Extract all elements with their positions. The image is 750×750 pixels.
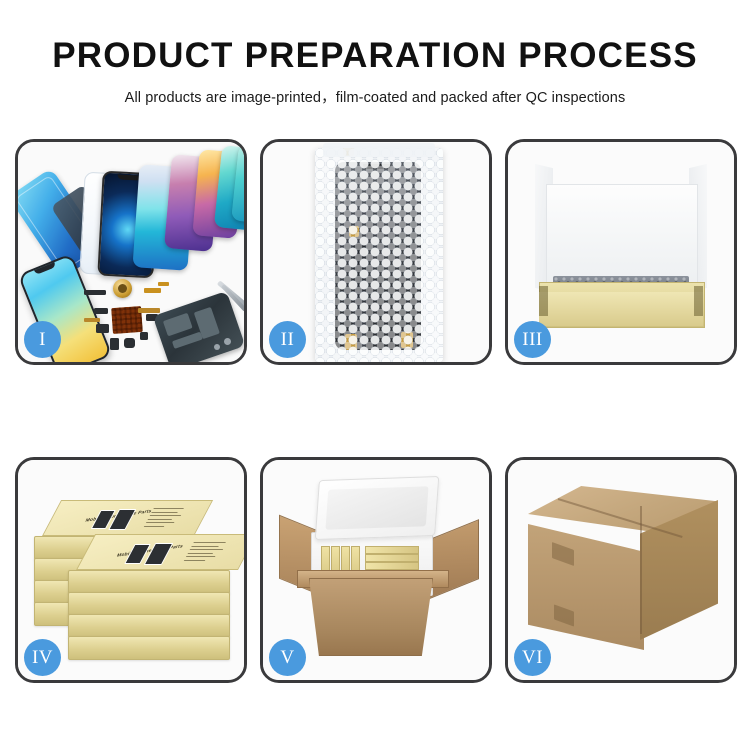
open-box <box>535 154 707 344</box>
bubble-texture-overlay <box>315 148 443 362</box>
step-badge-1: I <box>24 321 61 358</box>
flex-cable-4 <box>84 318 100 322</box>
open-carton <box>281 474 477 672</box>
step-panel-3: III <box>505 139 737 365</box>
stacked-box-f4 <box>68 636 230 660</box>
product-preparation-infographic: PRODUCT PREPARATION PROCESS All products… <box>0 0 750 750</box>
chip-part-1 <box>84 290 106 295</box>
step-badge-3: III <box>514 321 551 358</box>
step-badge-2: II <box>269 321 306 358</box>
box-corner-left <box>539 286 548 316</box>
speaker-coil-part <box>113 279 132 298</box>
carton-front <box>309 578 433 656</box>
step-badge-5: V <box>269 639 306 676</box>
box-stack: Mobile Phone Spare Parts Mobi <box>34 474 234 670</box>
stacked-box-top-front: Mobile Phone Spare Parts <box>76 534 244 570</box>
step-panel-2: II <box>260 139 492 365</box>
stacked-box-f3 <box>68 614 230 638</box>
steps-grid: I II <box>15 139 737 683</box>
box-corner-right <box>694 286 703 316</box>
step-badge-4: IV <box>24 639 61 676</box>
bubble-wrap-bag <box>315 148 443 362</box>
stacked-box-top-back: Mobile Phone Spare Parts <box>42 500 213 536</box>
screw-part-2 <box>214 344 220 350</box>
step-panel-4: Mobile Phone Spare Parts Mobi <box>15 457 247 683</box>
flex-cable-3 <box>138 308 160 313</box>
flex-cable-1 <box>144 288 161 293</box>
stacked-box-f1 <box>68 570 230 594</box>
packed-box-h2 <box>365 554 419 562</box>
header: PRODUCT PREPARATION PROCESS All products… <box>0 0 750 107</box>
page-subtitle: All products are image-printed，film-coat… <box>0 86 750 107</box>
chip-part-5 <box>140 332 148 340</box>
step-panel-6: VI <box>505 457 737 683</box>
chip-part-2 <box>96 324 109 333</box>
packed-box-h3 <box>365 562 419 570</box>
box-spec-lines-front <box>182 542 233 564</box>
sealed-carton <box>528 486 718 658</box>
flex-cable-2 <box>158 282 169 286</box>
step-panel-5: V <box>260 457 492 683</box>
box-front-face <box>539 292 703 326</box>
bag-seal-top <box>323 143 435 157</box>
screw-part-1 <box>224 338 231 345</box>
foam-lid <box>315 476 440 540</box>
stacked-box-f2 <box>68 592 230 616</box>
phone-chassis-teardown <box>153 291 244 362</box>
page-title: PRODUCT PREPARATION PROCESS <box>0 38 750 73</box>
chip-part-3 <box>110 338 119 350</box>
step-panel-1: I <box>15 139 247 365</box>
packed-box-h1 <box>365 546 419 554</box>
chip-part-4 <box>124 338 135 348</box>
step-badge-6: VI <box>514 639 551 676</box>
carton-front-face <box>528 524 644 650</box>
carton-edge-seam <box>640 506 642 634</box>
bag-body <box>315 148 443 362</box>
chip-part-7 <box>94 308 108 314</box>
